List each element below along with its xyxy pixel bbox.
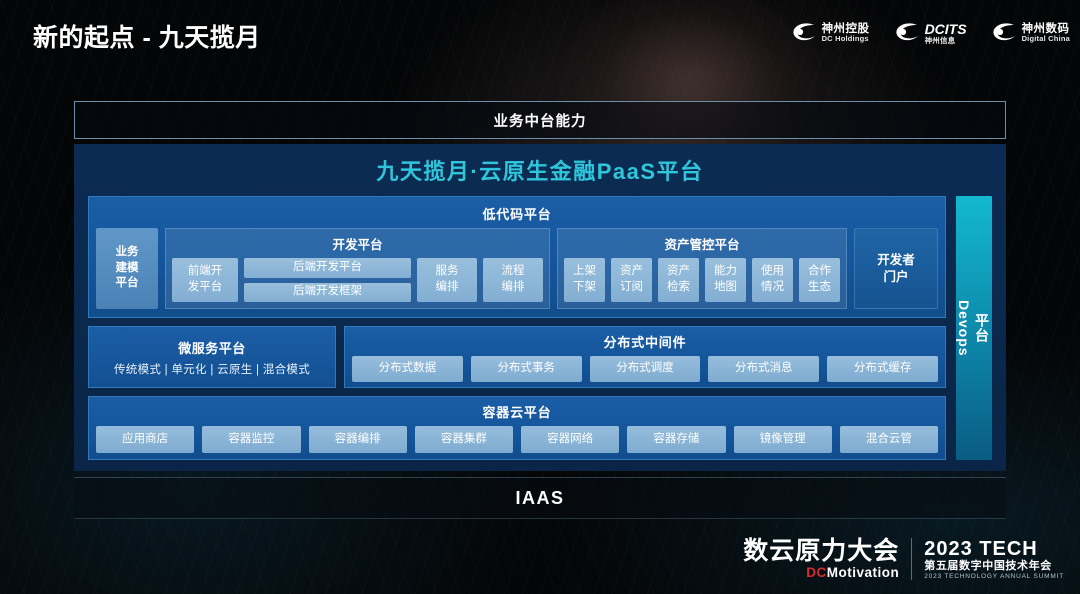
slide-root: 新的起点 - 九天揽月 神州控股 DC Holdings DCITS: [0, 0, 1080, 594]
dev-platform-title: 开发平台: [172, 232, 543, 258]
digital-china-logo: 神州数码 Digital China: [991, 22, 1070, 44]
cell-image-management[interactable]: 镜像管理: [734, 426, 832, 453]
lowcode-platform-section: 低代码平台 业务 建模 平台 开发平台 前端开 发平台 后端开发平台 后端开发框…: [88, 196, 946, 318]
event-name-en: DCMotivation: [743, 566, 899, 580]
cell-business-modeling-platform[interactable]: 业务 建模 平台: [96, 228, 158, 309]
event-subtitle-cn: 第五届数字中国技术年会: [924, 560, 1064, 572]
microservice-platform-title: 微服务平台: [178, 338, 246, 357]
brand-logo-group: 神州控股 DC Holdings DCITS 神州信息: [791, 22, 1070, 45]
cell-distributed-message[interactable]: 分布式消息: [708, 356, 819, 382]
cell-service-orchestration[interactable]: 服务 编排: [417, 258, 477, 302]
cell-container-monitoring[interactable]: 容器监控: [202, 426, 300, 453]
business-midplatform-label: 业务中台能力: [494, 110, 587, 131]
devops-sidebar: Devops 平台: [956, 196, 992, 460]
event-name-en-dc: DC: [806, 565, 827, 580]
cell-asset-listing[interactable]: 上架 下架: [564, 258, 605, 302]
cell-distributed-scheduling[interactable]: 分布式调度: [590, 356, 701, 382]
cell-app-store[interactable]: 应用商店: [96, 426, 194, 453]
backend-stack-group: 后端开发平台 后端开发框架: [244, 258, 411, 302]
event-logo-right: 2023 TECH 第五届数字中国技术年会 2023 TECHNOLOGY AN…: [924, 538, 1064, 580]
swirl-icon: [894, 22, 920, 44]
slide-header: 新的起点 - 九天揽月 神州控股 DC Holdings DCITS: [0, 0, 1080, 72]
microservice-platform-modes: 传统模式 | 单元化 | 云原生 | 混合模式: [114, 361, 310, 377]
middleware-section: 分布式中间件 分布式数据 分布式事务 分布式调度 分布式消息 分布式缓存: [344, 326, 946, 388]
event-name-cn: 数云原力大会: [743, 539, 899, 564]
middleware-title: 分布式中间件: [352, 330, 938, 356]
cell-frontend-dev-platform[interactable]: 前端开 发平台: [172, 258, 238, 302]
swirl-icon: [791, 22, 817, 44]
container-cloud-title: 容器云平台: [96, 400, 938, 426]
cell-container-network[interactable]: 容器网络: [521, 426, 619, 453]
logo-label-en: 神州信息: [925, 37, 967, 45]
dev-platform-group: 开发平台 前端开 发平台 后端开发平台 后端开发框架 服务 编排 流程 编排: [165, 228, 550, 309]
cell-asset-search[interactable]: 资产 检索: [658, 258, 699, 302]
iaas-label: IAAS: [515, 488, 564, 509]
page-title: 新的起点 - 九天揽月: [33, 18, 261, 54]
paas-platform-body: Devops 平台 低代码平台 业务 建模 平台 开发平台 前端开 发平台: [74, 196, 1006, 470]
iaas-band: IAAS: [74, 477, 1006, 519]
swirl-icon: [991, 22, 1017, 44]
paas-rows: 低代码平台 业务 建模 平台 开发平台 前端开 发平台 后端开发平台 后端开发框…: [88, 196, 946, 460]
logo-label-cn: DCITS: [925, 22, 967, 37]
middle-row: 微服务平台 传统模式 | 单元化 | 云原生 | 混合模式 分布式中间件 分布式…: [88, 326, 946, 388]
cell-hybrid-cloud-management[interactable]: 混合云管: [840, 426, 938, 453]
cell-backend-dev-framework[interactable]: 后端开发框架: [244, 283, 411, 303]
cell-container-orchestration[interactable]: 容器编排: [309, 426, 407, 453]
devops-label-latin: Devops: [956, 300, 972, 357]
cell-developer-portal[interactable]: 开发者 门户: [854, 228, 938, 309]
business-midplatform-band: 业务中台能力: [74, 101, 1006, 139]
dcits-logo: DCITS 神州信息: [894, 22, 967, 45]
asset-control-platform-group: 资产管控平台 上架 下架 资产 订阅 资产 检索 能力 地图 使用 情况 合作 …: [557, 228, 847, 309]
cell-container-storage[interactable]: 容器存储: [627, 426, 725, 453]
dc-holdings-logo: 神州控股 DC Holdings: [791, 22, 870, 44]
cell-flow-orchestration[interactable]: 流程 编排: [483, 258, 543, 302]
event-subtitle-en: 2023 TECHNOLOGY ANNUAL SUMMIT: [924, 573, 1064, 580]
asset-control-platform-title: 资产管控平台: [564, 232, 840, 258]
event-logo-divider: [911, 538, 912, 580]
logo-label-en: Digital China: [1022, 35, 1070, 43]
lowcode-platform-title: 低代码平台: [96, 202, 938, 228]
microservice-platform-section: 微服务平台 传统模式 | 单元化 | 云原生 | 混合模式: [88, 326, 336, 388]
event-logo-left: 数云原力大会 DCMotivation: [743, 539, 899, 580]
paas-platform-panel: 九天揽月·云原生金融PaaS平台 Devops 平台 低代码平台 业务 建模 平…: [74, 144, 1006, 471]
logo-label-en: DC Holdings: [822, 35, 870, 43]
event-year-tech: 2023 TECH: [924, 538, 1064, 560]
cell-distributed-cache[interactable]: 分布式缓存: [827, 356, 938, 382]
cell-distributed-transaction[interactable]: 分布式事务: [471, 356, 582, 382]
event-logo: 数云原力大会 DCMotivation 2023 TECH 第五届数字中国技术年…: [743, 538, 1064, 580]
cell-capability-map[interactable]: 能力 地图: [705, 258, 746, 302]
cell-usage-status[interactable]: 使用 情况: [752, 258, 793, 302]
cell-distributed-data[interactable]: 分布式数据: [352, 356, 463, 382]
devops-label-cn: 平台: [972, 313, 992, 343]
cell-container-cluster[interactable]: 容器集群: [415, 426, 513, 453]
cell-partner-ecosystem[interactable]: 合作 生态: [799, 258, 840, 302]
cell-asset-subscription[interactable]: 资产 订阅: [611, 258, 652, 302]
container-cloud-section: 容器云平台 应用商店 容器监控 容器编排 容器集群 容器网络 容器存储 镜像管理…: [88, 396, 946, 460]
cell-backend-dev-platform[interactable]: 后端开发平台: [244, 258, 411, 278]
event-name-en-motivation: Motivation: [827, 565, 900, 580]
paas-platform-title: 九天揽月·云原生金融PaaS平台: [74, 144, 1006, 196]
